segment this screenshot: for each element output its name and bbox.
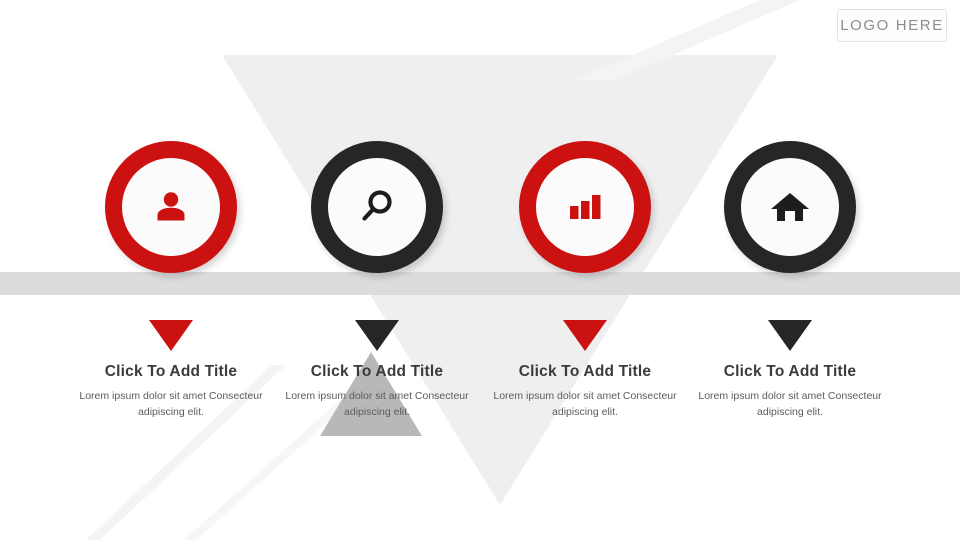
bar-chart-icon [519, 141, 651, 273]
block-description-2: Lorem ipsum dolor sit amet Consecteur ad… [272, 388, 482, 420]
block-title-4: Click To Add Title [685, 363, 895, 381]
marker-triangle-1 [149, 320, 193, 351]
home-icon [724, 141, 856, 273]
slide-canvas: LOGO HERE [0, 0, 960, 540]
block-title-1: Click To Add Title [66, 363, 276, 381]
content-block-3: Click To Add Title Lorem ipsum dolor sit… [480, 320, 690, 420]
user-icon [105, 141, 237, 273]
icon-badges-row [0, 0, 960, 540]
icon-badge-1[interactable] [105, 141, 237, 273]
icon-badge-2[interactable] [311, 141, 443, 273]
icon-badge-4[interactable] [724, 141, 856, 273]
search-icon [311, 141, 443, 273]
content-block-4: Click To Add Title Lorem ipsum dolor sit… [685, 320, 895, 420]
block-description-3: Lorem ipsum dolor sit amet Consecteur ad… [480, 388, 690, 420]
marker-triangle-2 [355, 320, 399, 351]
block-description-1: Lorem ipsum dolor sit amet Consecteur ad… [66, 388, 276, 420]
block-title-3: Click To Add Title [480, 363, 690, 381]
icon-badge-3[interactable] [519, 141, 651, 273]
block-description-4: Lorem ipsum dolor sit amet Consecteur ad… [685, 388, 895, 420]
marker-triangle-4 [768, 320, 812, 351]
content-block-2: Click To Add Title Lorem ipsum dolor sit… [272, 320, 482, 420]
content-block-1: Click To Add Title Lorem ipsum dolor sit… [66, 320, 276, 420]
marker-triangle-3 [563, 320, 607, 351]
block-title-2: Click To Add Title [272, 363, 482, 381]
